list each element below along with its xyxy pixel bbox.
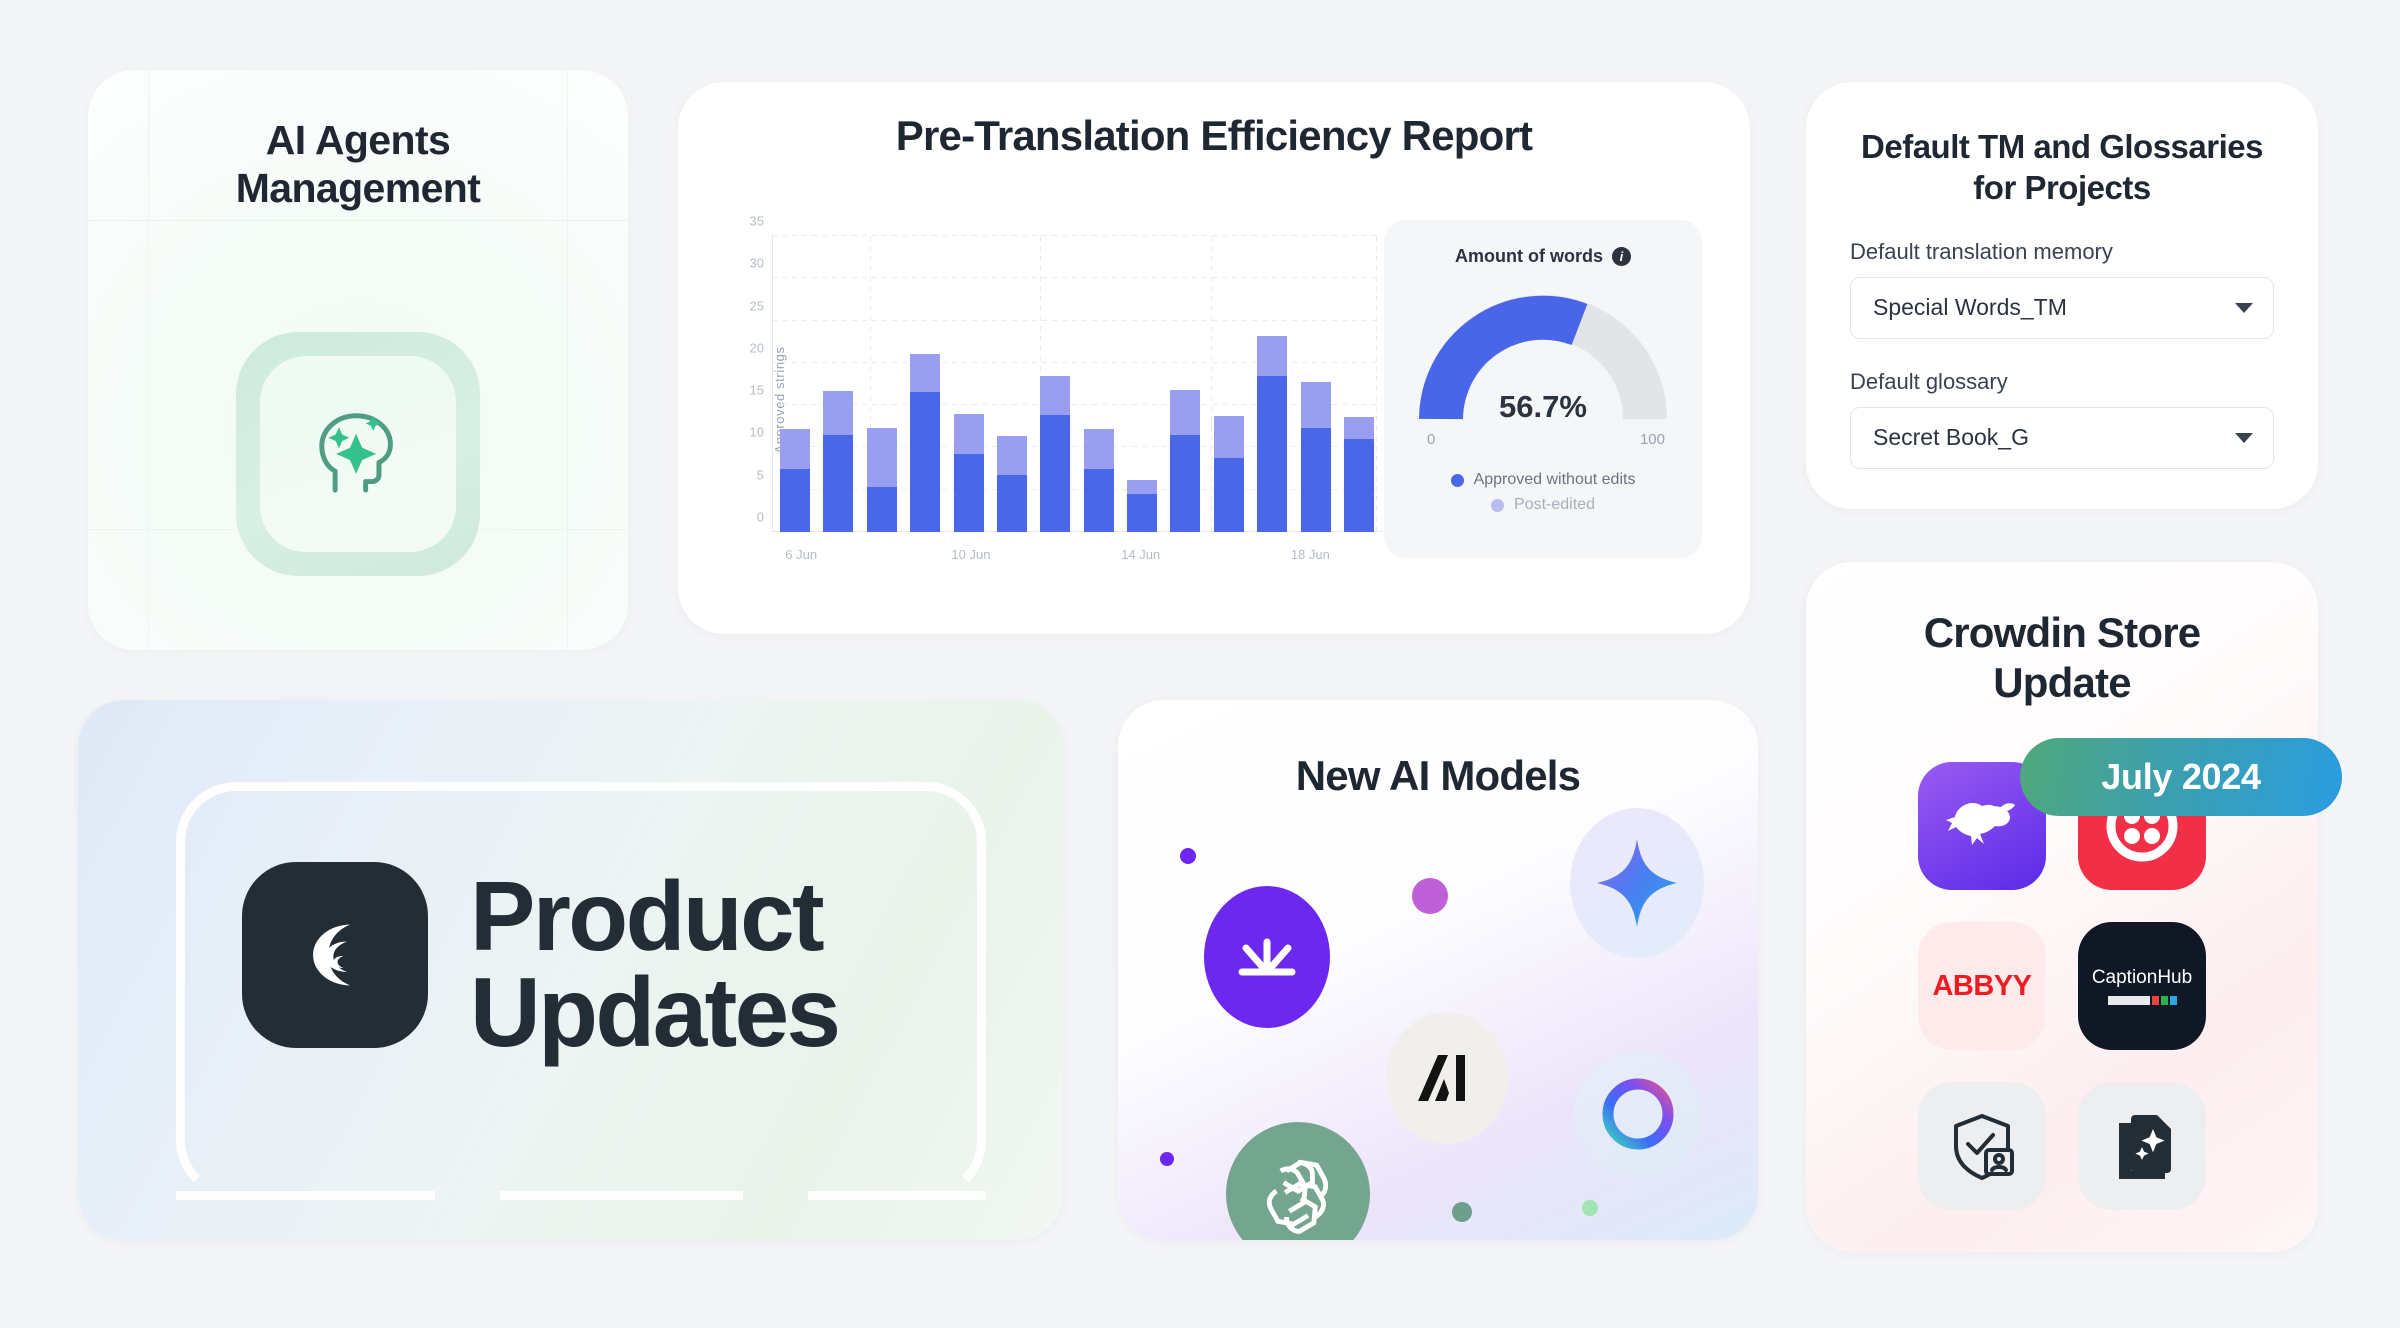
tm-label-translation-memory: Default translation memory <box>1850 239 2274 265</box>
anthropic-claude-logo-icon <box>1386 1012 1508 1144</box>
chart-bars <box>772 236 1382 532</box>
y-tick-0: 0 <box>757 510 764 525</box>
bar-segment-post-edited <box>780 429 810 469</box>
gauge-min-label: 0 <box>1427 431 1435 448</box>
amount-of-words-gauge-panel[interactable]: Amount of words i 56.7% 0 100 Approved w <box>1384 220 1702 558</box>
bar-segment-post-edited <box>867 428 897 487</box>
ai-agents-icon-inner <box>260 356 456 552</box>
bar-segment-approved <box>910 392 940 532</box>
report-body: Approved strings 0 5 <box>678 220 1750 616</box>
bar-segment-approved <box>1170 435 1200 532</box>
chart-bar[interactable] <box>823 391 853 532</box>
bar-segment-approved <box>954 454 984 532</box>
bar-segment-approved <box>867 487 897 532</box>
bar-segment-post-edited <box>997 436 1027 476</box>
bar-segment-post-edited <box>823 391 853 435</box>
translation-memory-select[interactable]: Special Words_TM <box>1850 277 2274 339</box>
y-tick-20: 20 <box>750 340 764 355</box>
chart-bar[interactable] <box>867 428 897 532</box>
gauge-value: 56.7% <box>1499 389 1587 425</box>
ai-agents-title-line2: Management <box>88 164 628 212</box>
chart-bar[interactable] <box>997 436 1027 532</box>
ai-agents-icon-frame <box>236 332 480 576</box>
y-tick-5: 5 <box>757 467 764 482</box>
chart-bar[interactable] <box>1040 376 1070 532</box>
gemini-sparkle-logo-icon <box>1570 808 1704 958</box>
glossary-select[interactable]: Secret Book_G <box>1850 407 2274 469</box>
info-icon[interactable]: i <box>1612 247 1631 266</box>
bar-segment-post-edited <box>954 414 984 455</box>
gauge-title: Amount of words <box>1455 246 1603 267</box>
tm-label-glossary: Default glossary <box>1850 369 2274 395</box>
crowdin-logo-icon <box>242 862 428 1048</box>
gauge-legend: Approved without edits Post-edited <box>1384 471 1702 514</box>
chart-bar[interactable] <box>1170 390 1200 532</box>
legend-item: Approved without edits <box>1384 471 1702 489</box>
legend-label-approved: Approved without edits <box>1474 471 1636 489</box>
legend-dot-postedited <box>1491 499 1504 512</box>
ai-agents-title-line1: AI Agents <box>88 116 628 164</box>
bar-segment-post-edited <box>1214 416 1244 457</box>
tm-field-glossary: Default glossary Secret Book_G <box>1806 369 2318 469</box>
chart-plot-area: 0 5 10 15 20 25 30 35 6 Jun10 Jun14 Jun1… <box>772 236 1382 532</box>
captionhub-app-icon[interactable]: CaptionHub <box>2078 922 2206 1050</box>
y-tick-30: 30 <box>750 256 764 271</box>
openai-logo-icon <box>1226 1122 1370 1240</box>
ai-ring-logo-icon <box>1574 1050 1702 1178</box>
captionhub-bars <box>2108 996 2177 1005</box>
product-updates-title: Product Updates <box>470 868 838 1060</box>
chart-x-tick: 18 Jun <box>1291 547 1330 562</box>
ai-document-app-icon[interactable] <box>2078 1082 2206 1210</box>
chevron-down-icon[interactable] <box>2235 433 2253 443</box>
bar-segment-approved <box>997 475 1027 532</box>
bar-segment-post-edited <box>1301 382 1331 428</box>
chart-bar[interactable] <box>1301 382 1331 532</box>
month-badge: July 2024 <box>2020 738 2342 816</box>
store-app-grid: ABBYY CaptionHub <box>1918 762 2206 1210</box>
decor-dot <box>1452 1202 1472 1222</box>
crowdin-store-title-line2: Update <box>1866 658 2258 708</box>
y-tick-15: 15 <box>750 383 764 398</box>
bar-segment-approved <box>1127 494 1157 532</box>
bar-segment-approved <box>823 435 853 532</box>
chart-bar[interactable] <box>1214 416 1244 532</box>
gauge-title-row: Amount of words i <box>1384 220 1702 267</box>
translation-memory-value: Special Words_TM <box>1873 294 2067 321</box>
bar-segment-post-edited <box>1127 480 1157 494</box>
chart-bar[interactable] <box>1257 336 1287 532</box>
gauge-max-label: 100 <box>1640 431 1665 448</box>
abbyy-app-icon[interactable]: ABBYY <box>1918 922 2046 1050</box>
chart-bar[interactable] <box>1344 417 1374 532</box>
report-title: Pre-Translation Efficiency Report <box>678 82 1750 160</box>
gauge-dial: 56.7% 0 100 <box>1419 293 1667 425</box>
bar-segment-post-edited <box>910 354 940 392</box>
bar-segment-approved <box>1214 458 1244 532</box>
ai-agents-title: AI Agents Management <box>88 70 628 213</box>
abbyy-wordmark: ABBYY <box>1932 970 2031 1003</box>
ai-head-sparkle-icon <box>297 391 419 518</box>
approved-strings-bar-chart[interactable]: Approved strings 0 5 <box>730 230 1382 570</box>
product-updates-line1: Product <box>470 868 838 964</box>
legend-item: Post-edited <box>1384 496 1702 514</box>
bar-segment-post-edited <box>1040 376 1070 415</box>
legend-label-postedited: Post-edited <box>1514 496 1595 514</box>
chart-bar[interactable] <box>1127 480 1157 532</box>
bar-segment-post-edited <box>1084 429 1114 469</box>
crowdin-store-title: Crowdin Store Update <box>1806 562 2318 709</box>
crowdin-store-title-line1: Crowdin Store <box>1866 608 2258 658</box>
product-updates-line2: Updates <box>470 964 838 1060</box>
decor-dot <box>1180 848 1196 864</box>
decor-dot <box>1412 878 1448 914</box>
chart-bar[interactable] <box>780 429 810 532</box>
new-ai-models-title: New AI Models <box>1118 700 1758 800</box>
chart-x-tick: 14 Jun <box>1121 547 1160 562</box>
glossary-value: Secret Book_G <box>1873 424 2029 451</box>
decor-dot <box>1582 1200 1598 1216</box>
bar-segment-approved <box>1344 439 1374 532</box>
bar-segment-post-edited <box>1257 336 1287 376</box>
bar-segment-approved <box>1301 428 1331 532</box>
chart-x-tick: 10 Jun <box>951 547 990 562</box>
bar-segment-approved <box>1040 415 1070 532</box>
tm-card-title: Default TM and Glossaries for Projects <box>1806 82 2318 209</box>
bar-segment-post-edited <box>1344 417 1374 439</box>
chart-bar[interactable] <box>1084 429 1114 532</box>
y-tick-25: 25 <box>750 298 764 313</box>
y-tick-10: 10 <box>750 425 764 440</box>
default-tm-glossaries-card[interactable]: Default TM and Glossaries for Projects D… <box>1806 82 2318 509</box>
mistral-ai-logo-icon <box>1204 886 1330 1028</box>
product-updates-board: AI Agents Management Pre-Translation Eff… <box>0 0 2400 1328</box>
decor-dot <box>1160 1152 1174 1166</box>
captionhub-wordmark: CaptionHub <box>2092 967 2192 989</box>
new-ai-models-card[interactable]: New AI Models <box>1118 700 1758 1240</box>
chevron-down-icon[interactable] <box>2235 303 2253 313</box>
bar-segment-approved <box>1257 376 1287 532</box>
bar-segment-approved <box>780 469 810 532</box>
bar-segment-approved <box>1084 469 1114 532</box>
chart-x-tick: 6 Jun <box>785 547 817 562</box>
tm-field-translation-memory: Default translation memory Special Words… <box>1806 239 2318 339</box>
y-tick-35: 35 <box>750 214 764 229</box>
crowdin-store-update-card[interactable]: Crowdin Store Update ABBYY <box>1806 562 2318 1252</box>
shield-id-app-icon[interactable] <box>1918 1082 2046 1210</box>
chart-bar[interactable] <box>910 354 940 532</box>
ai-agents-management-card[interactable]: AI Agents Management <box>88 70 628 650</box>
chart-bar[interactable] <box>954 414 984 532</box>
bar-segment-post-edited <box>1170 390 1200 435</box>
legend-dot-approved <box>1451 474 1464 487</box>
pretranslation-efficiency-report-card[interactable]: Pre-Translation Efficiency Report Approv… <box>678 82 1750 634</box>
